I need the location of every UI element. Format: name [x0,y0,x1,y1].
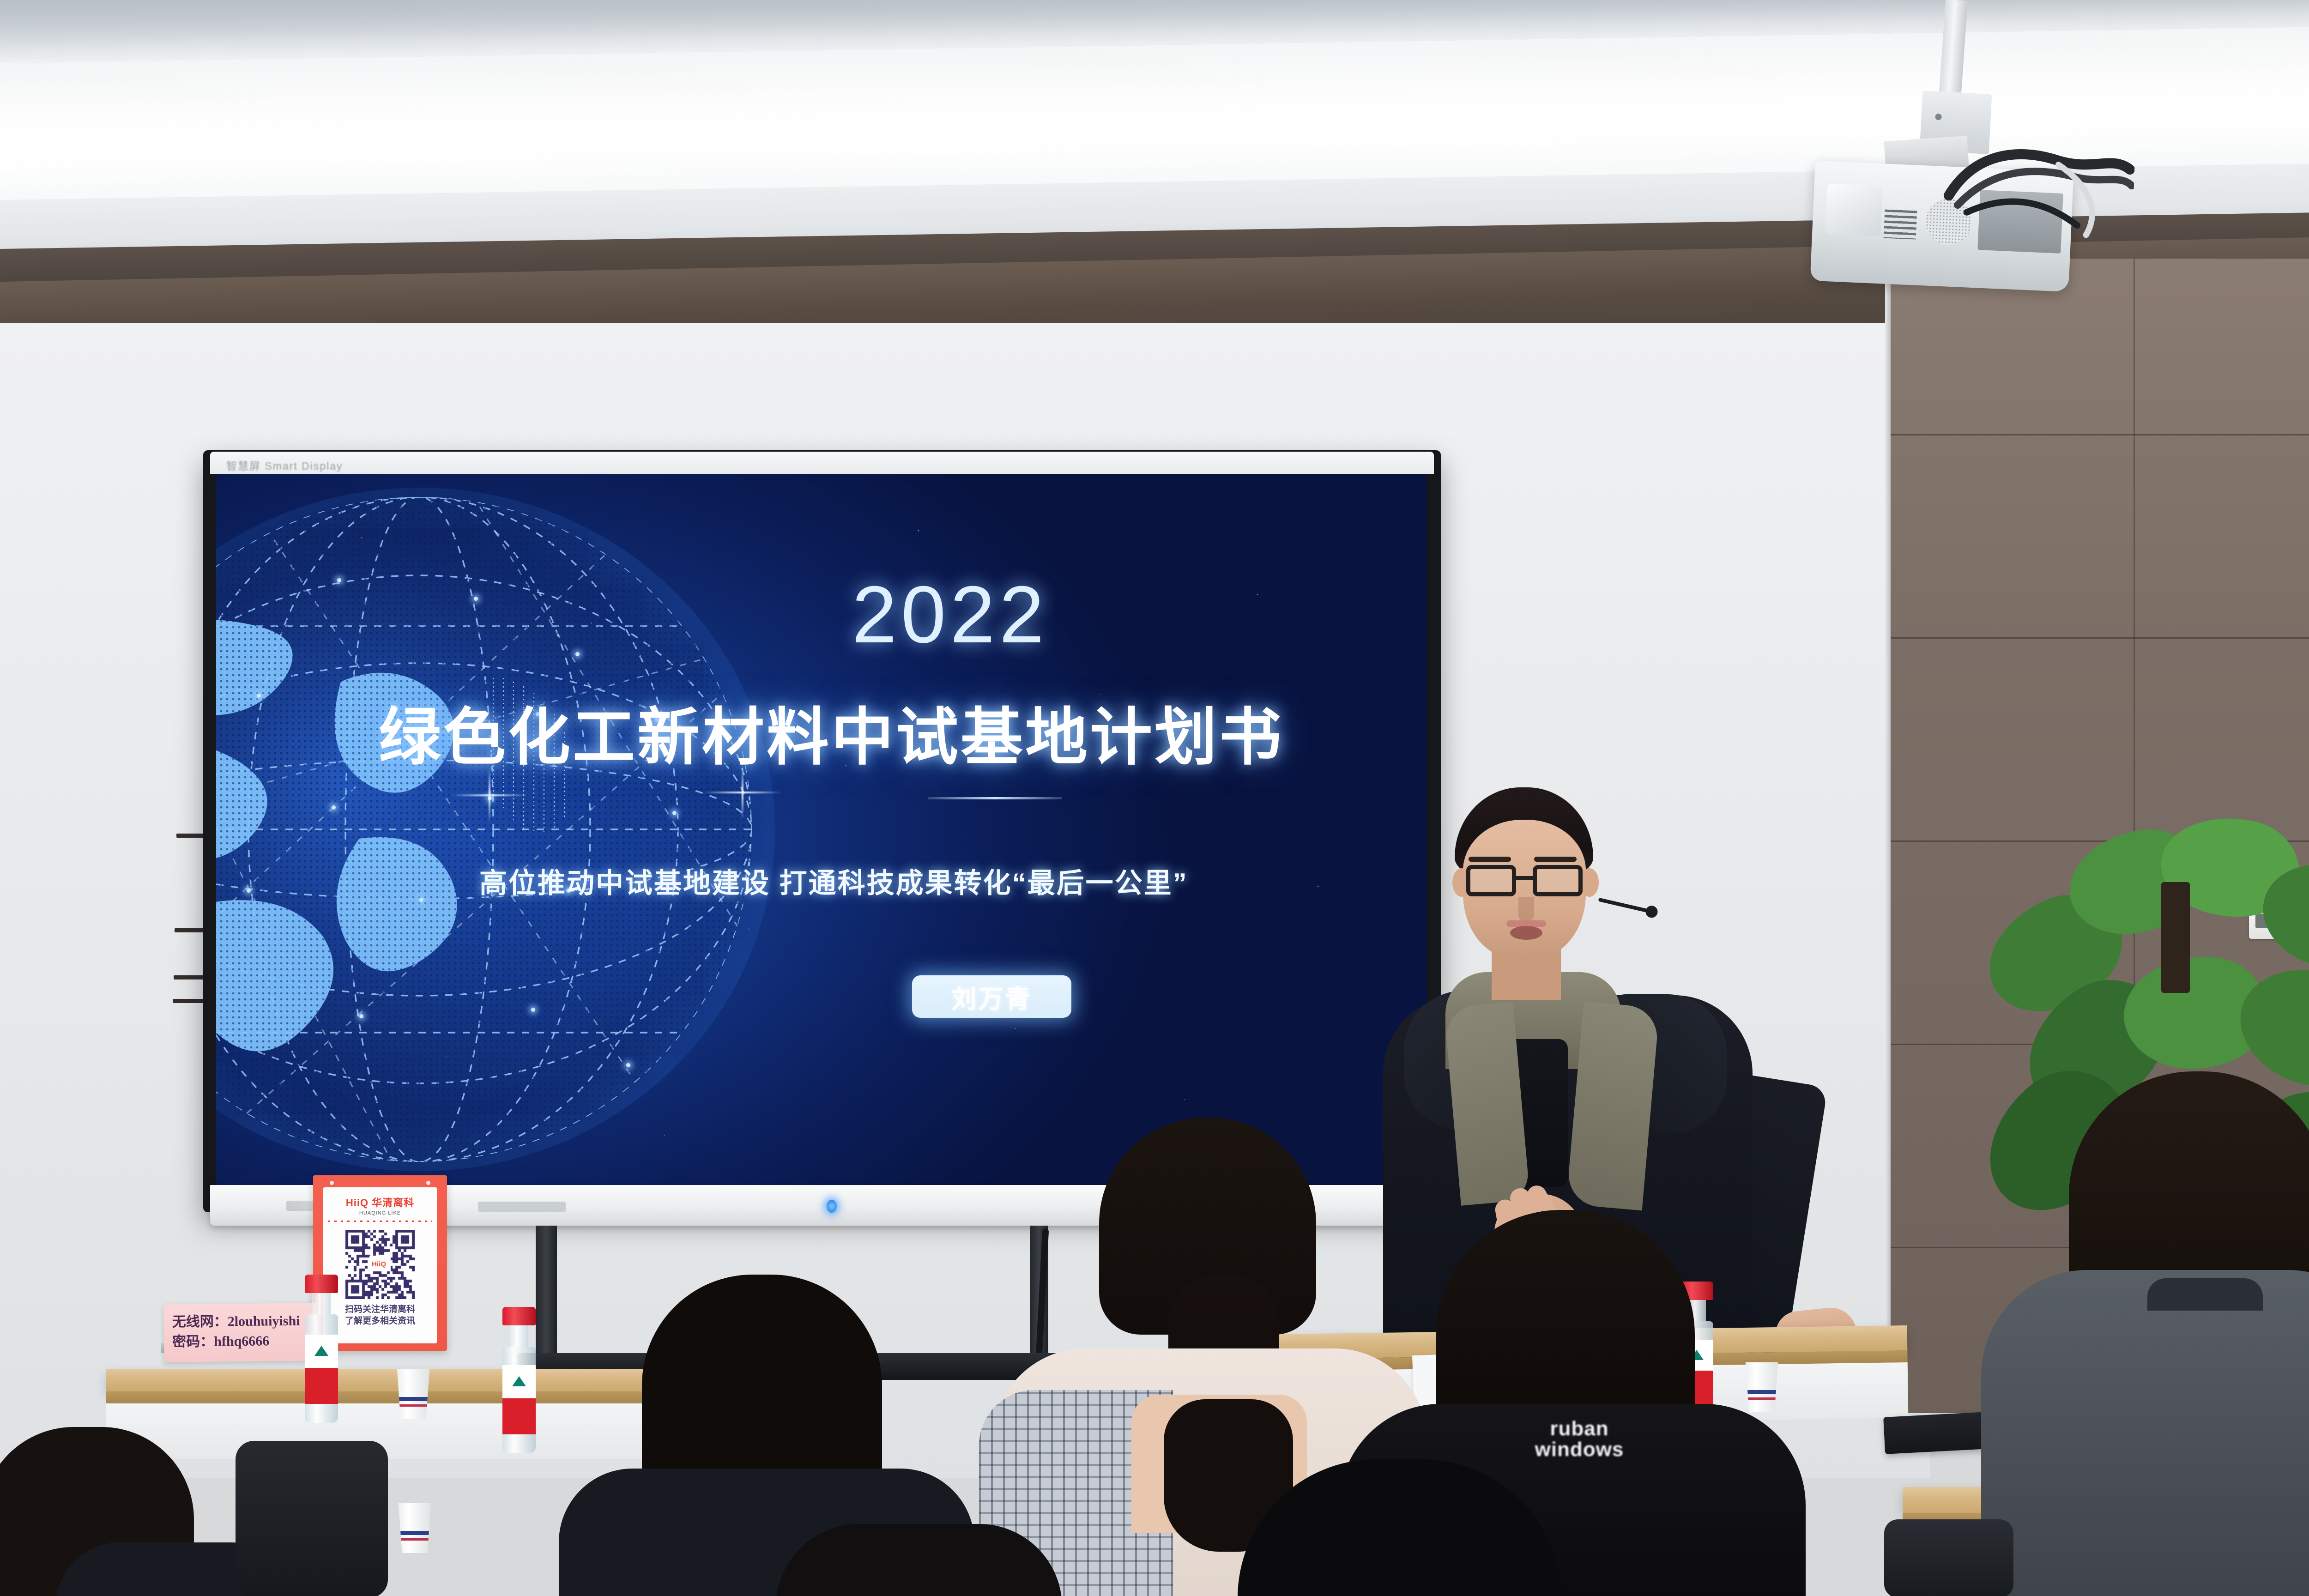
display-stand-leg-left [536,1226,557,1364]
wall-clip [174,975,208,979]
qr-code[interactable] [345,1230,415,1299]
jacket-print-text: ruban windows [1510,1419,1649,1460]
chair-back [236,1441,388,1596]
water-bottle[interactable] [502,1307,536,1453]
poster-logo: HiiQ 华清离科 HUAQING LIKE [323,1195,437,1216]
slide-divider [928,797,1062,799]
slide-presenter-badge: 刘万青 [912,975,1071,1018]
display-screen[interactable]: 2022 绿色化工新材料中试基地计划书 高位推动中试基地建设 打通科技成果转化“… [216,474,1427,1185]
paper-cup[interactable] [395,1503,435,1553]
slide-globe-graphic [216,488,775,1171]
presenter-glasses [1466,865,1516,896]
projector-vent-icon [1884,210,1917,240]
audience-suit-collar [2147,1278,2263,1311]
wall-clip [173,999,207,1003]
audience-suit [1981,1270,2309,1596]
headset-microphone-icon [1598,898,1652,913]
conference-room-scene: 智慧屏 Smart Display [0,0,2309,1596]
slide-title: 绿色化工新材料中试基地计划书 [379,686,1284,777]
projector-lens [1825,183,1883,236]
display-brand-label: 智慧屏 Smart Display [226,457,343,473]
display-ir-sensor [478,1202,566,1212]
projector-cables [1938,135,2135,258]
wifi-info-card: 无线网：2louhuiyishi 密码：hfhq6666 [163,1303,316,1362]
wifi-ssid-row: 无线网：2louhuiyishi [172,1311,316,1332]
poster-perforation [328,1221,432,1222]
audience-member [776,1524,1062,1596]
slide-year: 2022 [852,574,1048,655]
display-top-bezel [210,452,1434,474]
slide-subtitle: 高位推动中试基地建设 打通科技成果转化“最后一公里” [479,861,1188,901]
poster-caption: 扫码关注华清离科 了解更多相关资讯 [323,1304,437,1327]
wall-corner-edge [1885,259,1891,1413]
water-bottle[interactable] [305,1275,338,1423]
display-power-led [827,1200,837,1213]
slide-presenter-name: 刘万青 [952,979,1032,1015]
chair-back [1884,1519,2013,1596]
wifi-password-row: 密码：hfhq6666 [172,1331,316,1352]
